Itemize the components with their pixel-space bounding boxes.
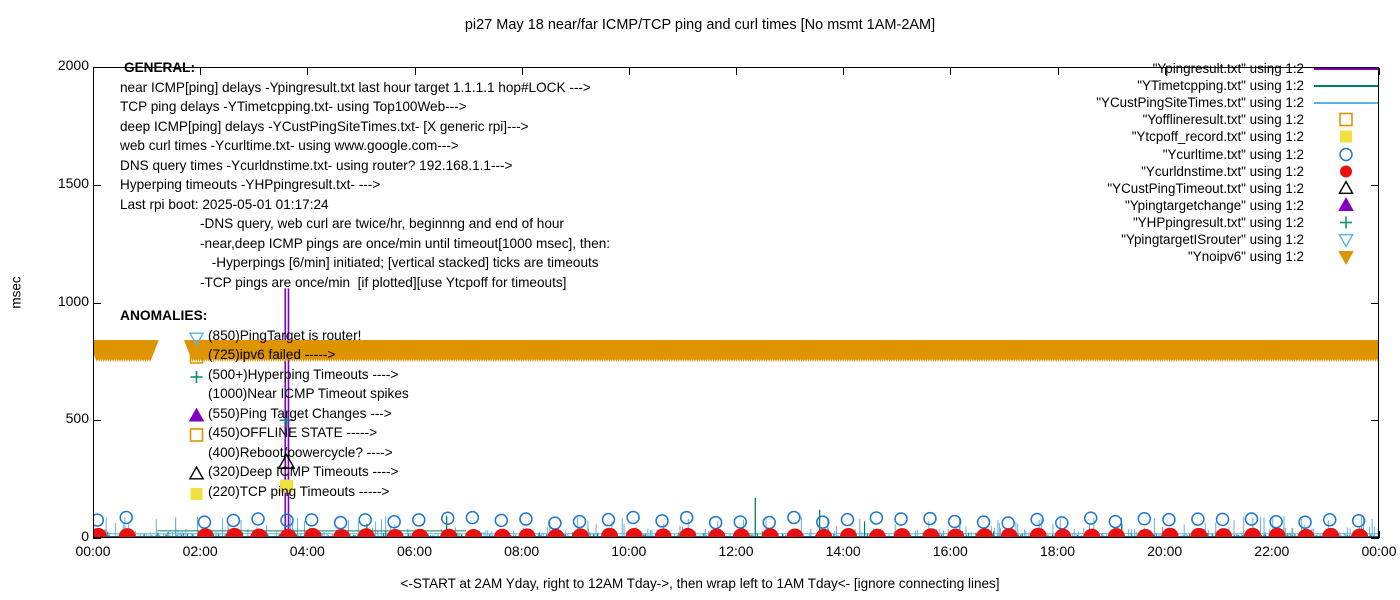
x-tick-label: 04:00 [272, 543, 342, 559]
anomaly-row: (500+)Hyperping Timeouts ----> [120, 367, 409, 387]
legend-item[interactable]: "Ypingresult.txt" using 1:2 [980, 60, 1380, 77]
anomaly-row: (320)Deep ICMP Timeouts ----> [120, 464, 409, 484]
general-line: deep ICMP[ping] delays -YCustPingSiteTim… [120, 119, 610, 139]
anomaly-label: (220)TCP ping Timeouts -----> [208, 484, 389, 499]
general-line: DNS query times -Ycurldnstime.txt- using… [120, 158, 610, 178]
x-tick-label: 14:00 [808, 543, 878, 559]
legend-item[interactable]: "YHPpingresult.txt" using 1:2 [980, 214, 1380, 231]
general-heading: GENERAL: [120, 60, 610, 80]
anomalies-heading: ANOMALIES: [120, 308, 409, 328]
anomaly-tri-dn-open-icon [188, 330, 205, 345]
general-line: web curl times -Ycurltime.txt- using www… [120, 138, 610, 158]
legend-tri-up-fill-icon [1312, 197, 1380, 214]
x-tick-label: 10:00 [594, 543, 664, 559]
anomaly-label: (500+)Hyperping Timeouts ----> [208, 367, 398, 382]
anomaly-row: (400)Reboot/powercycle? ----> [120, 445, 409, 465]
legend-label: "Ypingtargetchange" using 1:2 [1125, 198, 1312, 213]
y-tick-label: 2000 [29, 58, 89, 72]
general-note: -Hyperpings [6/min] initiated; [vertical… [120, 255, 610, 275]
legend-item[interactable]: "Ycurldnstime.txt" using 1:2 [980, 163, 1380, 180]
y-tick-mark [93, 538, 101, 539]
anomaly-tri-up-fill-icon [188, 408, 205, 423]
anomaly-label: (1000)Near ICMP Timeout spikes [208, 386, 409, 401]
anomalies-annotation-block: ANOMALIES: (850)PingTarget is router!(72… [120, 308, 409, 503]
general-line: TCP ping delays -YTimetcpping.txt- using… [120, 99, 610, 119]
anomaly-label: (450)OFFLINE STATE -----> [208, 425, 377, 440]
anomaly-label: (320)Deep ICMP Timeouts ----> [208, 464, 399, 479]
general-line: near ICMP[ping] delays -Ypingresult.txt … [120, 80, 610, 100]
anomaly-row: (1000)Near ICMP Timeout spikes [120, 386, 409, 406]
legend-item[interactable]: "Ynoipv6" using 1:2 [980, 248, 1380, 265]
legend-line-icon [1312, 60, 1380, 77]
anomaly-row: (450)OFFLINE STATE -----> [120, 425, 409, 445]
anomaly-label: (850)PingTarget is router! [208, 328, 361, 343]
y-axis-label: msec [9, 263, 24, 323]
legend-label: "YTimetcpping.txt" using 1:2 [1137, 78, 1312, 93]
legend-item[interactable]: "Yofflineresult.txt" using 1:2 [980, 111, 1380, 128]
legend-label: "YpingtargetISrouter" using 1:2 [1121, 232, 1312, 247]
legend-square-open-icon [1312, 111, 1380, 128]
legend-item[interactable]: "YpingtargetISrouter" using 1:2 [980, 231, 1380, 248]
y-tick-label: 1500 [29, 176, 89, 190]
legend-tri-up-open-icon [1312, 180, 1380, 197]
x-tick-label: 02:00 [165, 543, 235, 559]
anomaly-row: (550)Ping Target Changes ---> [120, 406, 409, 426]
y-tick-label: 500 [29, 411, 89, 425]
general-annotation-block: GENERAL: near ICMP[ping] delays -Ypingre… [120, 60, 610, 294]
legend-item[interactable]: "Ypingtargetchange" using 1:2 [980, 197, 1380, 214]
anomaly-square-open-icon [188, 349, 205, 364]
anomaly-tri-up-open-icon [188, 466, 205, 481]
x-tick-label: 22:00 [1237, 543, 1307, 559]
legend-label: "Ycurltime.txt" using 1:2 [1163, 147, 1312, 162]
general-line: Hyperping timeouts -YHPpingresult.txt- -… [120, 177, 610, 197]
x-tick-label: 06:00 [380, 543, 450, 559]
general-note: -near,deep ICMP pings are once/min until… [120, 236, 610, 256]
general-note: -TCP pings are once/min [if plotted][use… [120, 275, 610, 295]
legend-line-swatch [1314, 85, 1378, 87]
y-tick-label: 1000 [29, 294, 89, 308]
legend-plus-icon [1312, 214, 1380, 231]
anomaly-row: (725)ipv6 failed -----> [120, 347, 409, 367]
legend-label: "Ypingresult.txt" using 1:2 [1153, 61, 1312, 76]
legend-label: "Yofflineresult.txt" using 1:2 [1143, 112, 1312, 127]
legend-item[interactable]: "YTimetcpping.txt" using 1:2 [980, 77, 1380, 94]
x-tick-label: 08:00 [487, 543, 557, 559]
anomaly-square-open-icon [188, 427, 205, 442]
anomaly-row: (220)TCP ping Timeouts -----> [120, 484, 409, 504]
legend-tri-dn-fill-icon [1312, 248, 1380, 265]
anomaly-label: (725)ipv6 failed -----> [208, 347, 335, 362]
x-tick-mark [1379, 531, 1380, 538]
anomaly-row: (850)PingTarget is router! [120, 328, 409, 348]
x-tick-label: 00:00 [58, 543, 128, 559]
x-tick-label: 16:00 [915, 543, 985, 559]
legend-circle-open-icon [1312, 146, 1380, 163]
legend-item[interactable]: "YCustPingSiteTimes.txt" using 1:2 [980, 94, 1380, 111]
legend-label: "Ytcpoff_record.txt" using 1:2 [1132, 129, 1312, 144]
anomaly-square-fill-icon [188, 486, 205, 501]
x-tick-label: 20:00 [1130, 543, 1200, 559]
legend-item[interactable]: "Ytcpoff_record.txt" using 1:2 [980, 128, 1380, 145]
legend-line-swatch [1314, 68, 1378, 70]
y-tick-label: 0 [29, 529, 89, 543]
legend-square-fill-icon [1312, 128, 1380, 145]
legend-circle-fill-icon [1312, 163, 1380, 180]
legend-line-swatch [1314, 102, 1378, 104]
x-tick-label: 18:00 [1023, 543, 1093, 559]
legend-item[interactable]: "Ycurltime.txt" using 1:2 [980, 145, 1380, 162]
anomaly-label: (550)Ping Target Changes ---> [208, 406, 392, 421]
x-axis-caption: <-START at 2AM Yday, right to 12AM Tday-… [0, 576, 1400, 591]
legend-label: "YHPpingresult.txt" using 1:2 [1133, 215, 1312, 230]
chart-title: pi27 May 18 near/far ICMP/TCP ping and c… [0, 17, 1400, 33]
legend-line-icon [1312, 77, 1380, 94]
legend-label: "YCustPingTimeout.txt" using 1:2 [1107, 181, 1312, 196]
anomaly-label: (400)Reboot/powercycle? ----> [208, 445, 393, 460]
x-tick-label: 12:00 [701, 543, 771, 559]
x-tick-label: 00:00 [1344, 543, 1400, 559]
legend-item[interactable]: "YCustPingTimeout.txt" using 1:2 [980, 180, 1380, 197]
legend: "Ypingresult.txt" using 1:2"YTimetcpping… [980, 60, 1380, 265]
legend-line-icon [1312, 94, 1380, 111]
general-line: Last rpi boot: 2025-05-01 01:17:24 [120, 197, 610, 217]
legend-label: "Ynoipv6" using 1:2 [1188, 249, 1312, 264]
anomaly-plus-icon [188, 369, 205, 384]
general-note: -DNS query, web curl are twice/hr, begin… [120, 216, 610, 236]
y-tick-mark [1371, 538, 1379, 539]
legend-tri-dn-open-icon [1312, 231, 1380, 248]
legend-label: "Ycurldnstime.txt" using 1:2 [1141, 164, 1312, 179]
legend-label: "YCustPingSiteTimes.txt" using 1:2 [1096, 95, 1312, 110]
